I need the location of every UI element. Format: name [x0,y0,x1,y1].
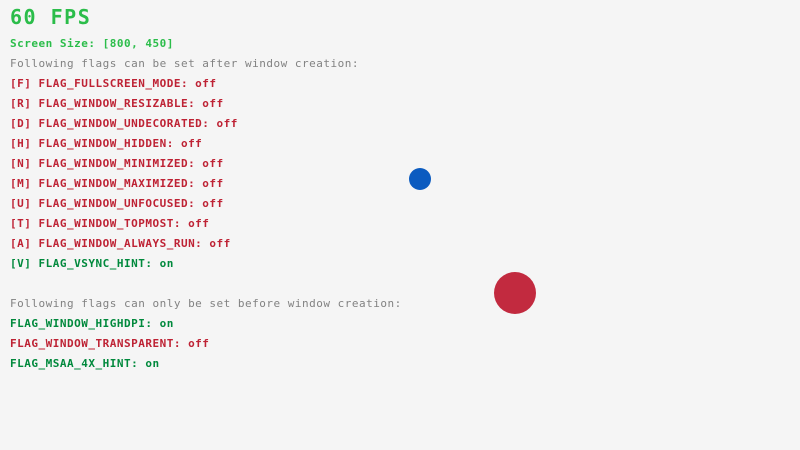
screen-size-label: Screen Size: [800, 450] [10,38,174,50]
red-ball-shape [494,272,536,314]
flag-row-window-minimized[interactable]: [N] FLAG_WINDOW_MINIMIZED: off [10,158,224,170]
flag-row-window-always-run[interactable]: [A] FLAG_WINDOW_ALWAYS_RUN: off [10,238,231,250]
flag-row-window-maximized[interactable]: [M] FLAG_WINDOW_MAXIMIZED: off [10,178,224,190]
flag-row-window-unfocused[interactable]: [U] FLAG_WINDOW_UNFOCUSED: off [10,198,224,210]
fps-counter: 60 FPS [10,7,91,27]
flag-row-window-highdpi: FLAG_WINDOW_HIGHDPI: on [10,318,174,330]
flag-row-window-transparent: FLAG_WINDOW_TRANSPARENT: off [10,338,209,350]
after-creation-section-header: Following flags can be set after window … [10,58,359,70]
flag-row-window-undecorated[interactable]: [D] FLAG_WINDOW_UNDECORATED: off [10,118,238,130]
flag-row-window-topmost[interactable]: [T] FLAG_WINDOW_TOPMOST: off [10,218,209,230]
flag-row-vsync-hint[interactable]: [V] FLAG_VSYNC_HINT: on [10,258,174,270]
blue-ball-shape [409,168,431,190]
flag-row-fullscreen-mode[interactable]: [F] FLAG_FULLSCREEN_MODE: off [10,78,217,90]
before-creation-section-header: Following flags can only be set before w… [10,298,402,310]
flag-row-msaa-4x-hint: FLAG_MSAA_4X_HINT: on [10,358,160,370]
raylib-window-canvas[interactable]: 60 FPS Screen Size: [800, 450] Following… [0,0,800,450]
flag-row-window-resizable[interactable]: [R] FLAG_WINDOW_RESIZABLE: off [10,98,224,110]
flag-row-window-hidden[interactable]: [H] FLAG_WINDOW_HIDDEN: off [10,138,202,150]
